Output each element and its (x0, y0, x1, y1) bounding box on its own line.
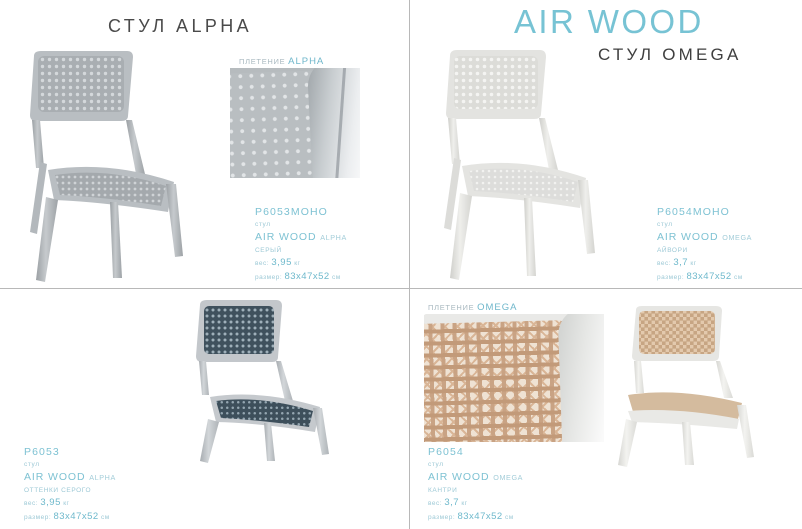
weight-label: вес: (428, 500, 442, 507)
panel-top-left: СТУЛ ALPHA (0, 0, 409, 288)
product-variant: OMEGA (722, 233, 752, 242)
weave-label: ПЛЕТЕНИЕ (428, 303, 474, 312)
horizontal-divider-left (0, 288, 409, 289)
product-variant: ALPHA (89, 473, 116, 482)
weight-unit: кг (294, 260, 300, 267)
weight-label: вес: (255, 260, 269, 267)
spec-block-top-left: P6053MOHO стул AIR WOOD ALPHA СЕРЫЙ вес:… (255, 205, 347, 284)
size-unit: см (101, 514, 110, 521)
size-unit: см (332, 274, 341, 281)
product-code: P6054MOHO (657, 205, 752, 219)
swatch-cane-texture (424, 320, 578, 442)
size-unit: см (505, 514, 514, 521)
weave-caption-alpha: ПЛЕТЕНИЕ ALPHA (239, 56, 324, 67)
weight-value: 3,95 (40, 497, 61, 508)
product-color: АЙВОРИ (657, 245, 752, 256)
horizontal-divider-right (410, 288, 802, 289)
weight-unit: кг (690, 260, 696, 267)
spec-block-top-right: P6054MOHO стул AIR WOOD OMEGA АЙВОРИ вес… (657, 205, 752, 284)
product-size: размер: 83х47х52 см (428, 510, 523, 524)
chair-alpha-twotone-svg (186, 295, 386, 465)
product-code: P6054 (428, 445, 523, 459)
size-label: размер: (657, 274, 684, 281)
panel-bottom-right: ПЛЕТЕНИЕ OMEGA (410, 289, 802, 529)
product-weight: вес: 3,95 кг (255, 256, 347, 270)
vertical-divider (409, 0, 410, 529)
weight-label: вес: (657, 260, 671, 267)
size-unit: см (734, 274, 743, 281)
size-value: 83х47х52 (284, 271, 329, 282)
swatch-omega-inner (424, 314, 604, 442)
product-size: размер: 83х47х52 см (657, 270, 752, 284)
weight-value: 3,7 (673, 257, 688, 268)
weight-value: 3,95 (271, 257, 292, 268)
product-color: КАНТРИ (428, 485, 523, 496)
chair-image-alpha-twotone (186, 295, 386, 465)
product-name: AIR WOOD ALPHA (24, 470, 116, 485)
product-brand: AIR WOOD (24, 471, 85, 483)
product-type: стул (657, 219, 752, 230)
weight-label: вес: (24, 500, 38, 507)
product-size: размер: 83х47х52 см (24, 510, 116, 524)
weave-name: ALPHA (288, 56, 324, 67)
chair-image-omega-country (606, 303, 796, 468)
product-weight: вес: 3,95 кг (24, 496, 116, 510)
product-name: AIR WOOD ALPHA (255, 230, 347, 245)
swatch-gloss (557, 314, 604, 442)
weave-swatch-omega (424, 314, 604, 442)
swatch-rim (307, 68, 360, 178)
product-color: СЕРЫЙ (255, 245, 347, 256)
size-label: размер: (428, 514, 455, 521)
weave-name: OMEGA (477, 302, 517, 313)
weave-swatch-alpha (230, 68, 360, 178)
product-weight: вес: 3,7 кг (428, 496, 523, 510)
product-name: AIR WOOD OMEGA (428, 470, 523, 485)
weave-label: ПЛЕТЕНИЕ (239, 57, 285, 66)
chair-alpha-grey-svg (18, 42, 218, 290)
product-size: размер: 83х47х52 см (255, 270, 347, 284)
product-brand: AIR WOOD (428, 471, 489, 483)
size-value: 83х47х52 (457, 511, 502, 522)
product-name: AIR WOOD OMEGA (657, 230, 752, 245)
product-brand: AIR WOOD (657, 231, 718, 243)
size-value: 83х47х52 (53, 511, 98, 522)
panel-bottom-left: P6053 стул AIR WOOD ALPHA ОТТЕНКИ СЕРОГО… (0, 289, 409, 529)
product-code: P6053 (24, 445, 116, 459)
weight-value: 3,7 (444, 497, 459, 508)
weight-unit: кг (63, 500, 69, 507)
catalog-page: СТУЛ ALPHA (0, 0, 802, 529)
product-type: стул (428, 459, 523, 470)
product-variant: OMEGA (493, 473, 523, 482)
product-type: стул (255, 219, 347, 230)
product-code: P6053MOHO (255, 205, 347, 219)
chair-image-alpha-grey (18, 42, 218, 290)
spec-block-bottom-left: P6053 стул AIR WOOD ALPHA ОТТЕНКИ СЕРОГО… (24, 445, 116, 524)
product-type: стул (24, 459, 116, 470)
product-color: ОТТЕНКИ СЕРОГО (24, 485, 116, 496)
panel-top-right: AIR WOOD СТУЛ OMEGA (410, 0, 802, 288)
weave-caption-omega: ПЛЕТЕНИЕ OMEGA (428, 302, 517, 313)
size-value: 83х47х52 (686, 271, 731, 282)
chair-omega-country-svg (606, 303, 796, 468)
spec-block-bottom-right: P6054 стул AIR WOOD OMEGA КАНТРИ вес: 3,… (428, 445, 523, 524)
chair-omega-ivory-svg (432, 42, 622, 287)
chair-image-omega-ivory (432, 42, 622, 287)
size-label: размер: (24, 514, 51, 521)
product-brand: AIR WOOD (255, 231, 316, 243)
product-weight: вес: 3,7 кг (657, 256, 752, 270)
page-title-alpha: СТУЛ ALPHA (108, 16, 252, 37)
brand-title: AIR WOOD (514, 3, 704, 41)
size-label: размер: (255, 274, 282, 281)
weight-unit: кг (461, 500, 467, 507)
product-variant: ALPHA (320, 233, 347, 242)
